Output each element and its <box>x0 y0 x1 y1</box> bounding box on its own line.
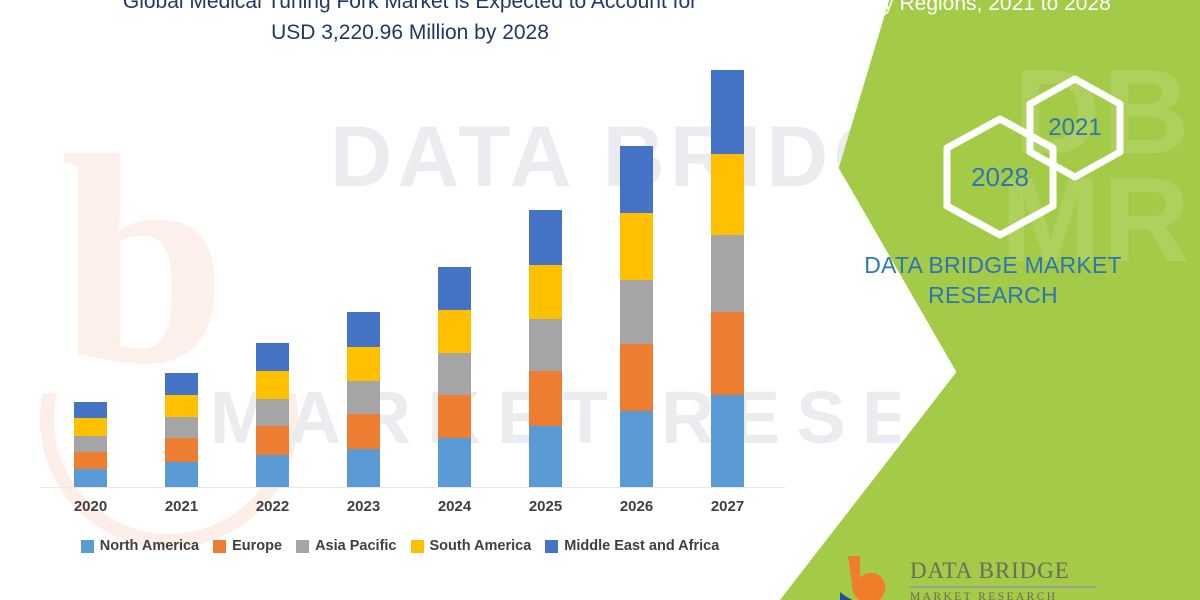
x-axis-labels: 20202021202220232024202520262027 <box>0 498 800 524</box>
bar-segment <box>256 371 289 399</box>
bar-segment <box>74 418 107 436</box>
hexagon-2028-label: 2028 <box>971 162 1029 193</box>
legend-label: Asia Pacific <box>315 538 396 554</box>
bar-2021 <box>165 373 198 488</box>
bar-segment <box>256 399 289 426</box>
bar-segment <box>74 402 107 418</box>
bar-2024 <box>438 267 471 488</box>
bar-segment <box>529 319 562 371</box>
bar-segment <box>165 438 198 462</box>
bar-segment <box>438 310 471 353</box>
legend-label: North America <box>100 538 199 554</box>
bar-segment <box>347 414 380 449</box>
company-logo-rule <box>910 586 1096 588</box>
bar-segment <box>256 455 289 488</box>
bar-segment <box>438 353 471 395</box>
bar-segment <box>711 235 744 313</box>
market-infographic: b DATA BRIDGE MARKET RESEARCH Global Med… <box>0 0 1200 600</box>
bar-segment <box>529 265 562 319</box>
company-logo-tagline: MARKET RESEARCH <box>910 591 1096 600</box>
bar-segment <box>620 344 653 412</box>
hexagon-group: 2028 2021 <box>900 75 1160 240</box>
bar-2025 <box>529 210 562 488</box>
x-axis-label-2023: 2023 <box>329 498 399 515</box>
bar-segment <box>165 395 198 418</box>
brand-name: DATA BRIDGE MARKET RESEARCH <box>808 250 1178 310</box>
bar-segment <box>529 426 562 488</box>
data-bridge-logo-icon <box>838 552 900 600</box>
bar-segment <box>711 312 744 394</box>
hexagon-2021: 2021 <box>1024 75 1126 181</box>
bar-2026 <box>620 146 653 488</box>
bar-2023 <box>347 312 380 488</box>
legend-swatch-icon <box>545 540 558 553</box>
legend-label: South America <box>430 538 532 554</box>
bar-segment <box>529 371 562 426</box>
legend-label: Middle East and Africa <box>564 538 719 554</box>
bar-segment <box>529 210 562 265</box>
bar-segment <box>711 154 744 235</box>
bar-segment <box>74 452 107 469</box>
bar-segment <box>620 146 653 214</box>
x-axis-label-2025: 2025 <box>511 498 581 515</box>
legend-item[interactable]: North America <box>81 538 199 554</box>
x-axis-label-2020: 2020 <box>56 498 126 515</box>
chart-legend: North AmericaEuropeAsia PacificSouth Ame… <box>0 538 800 554</box>
hexagon-2021-label: 2021 <box>1048 114 1101 142</box>
legend-swatch-icon <box>81 540 94 553</box>
bar-segment <box>438 395 471 439</box>
bar-segment <box>620 411 653 488</box>
bar-2022 <box>256 343 289 488</box>
legend-label: Europe <box>232 538 282 554</box>
bar-segment <box>620 280 653 344</box>
legend-swatch-icon <box>411 540 424 553</box>
x-axis-label-2024: 2024 <box>420 498 490 515</box>
bar-segment <box>347 347 380 381</box>
bar-segment <box>438 267 471 310</box>
legend-item[interactable]: South America <box>411 538 532 554</box>
x-axis-label-2026: 2026 <box>602 498 672 515</box>
bar-segment <box>347 381 380 414</box>
legend-item[interactable]: Middle East and Africa <box>545 538 719 554</box>
bar-segment <box>165 462 198 488</box>
bar-2027 <box>711 70 744 488</box>
chart-panel: b DATA BRIDGE MARKET RESEARCH Global Med… <box>0 0 900 600</box>
legend-item[interactable]: Asia Pacific <box>296 538 396 554</box>
legend-swatch-icon <box>213 540 226 553</box>
x-axis-label-2022: 2022 <box>238 498 308 515</box>
bar-2020 <box>74 402 107 488</box>
company-logo-name: DATA BRIDGE <box>910 558 1096 584</box>
stacked-bar-chart: 20202021202220232024202520262027 North A… <box>0 0 900 600</box>
company-logo: DATA BRIDGE MARKET RESEARCH <box>838 552 1178 600</box>
bar-segment <box>165 373 198 394</box>
bar-segment <box>347 312 380 347</box>
bar-segment <box>347 449 380 488</box>
subtitle: By Regions, 2021 to 2028 <box>780 0 1200 19</box>
legend-swatch-icon <box>296 540 309 553</box>
bar-segment <box>74 436 107 452</box>
bar-segment <box>165 417 198 438</box>
bar-segment <box>711 70 744 153</box>
legend-item[interactable]: Europe <box>213 538 282 554</box>
plot-area <box>40 60 780 488</box>
brand-name-line1: DATA BRIDGE MARKET <box>808 250 1178 280</box>
bar-segment <box>438 438 471 488</box>
bar-segment <box>74 469 107 488</box>
bar-segment <box>256 343 289 371</box>
bar-segment <box>711 395 744 488</box>
x-axis-label-2021: 2021 <box>147 498 217 515</box>
brand-name-line2: RESEARCH <box>808 280 1178 310</box>
bar-segment <box>620 213 653 279</box>
bar-segment <box>256 426 289 455</box>
axis-baseline <box>40 487 785 488</box>
company-logo-text: DATA BRIDGE MARKET RESEARCH <box>910 558 1096 600</box>
x-axis-label-2027: 2027 <box>693 498 763 515</box>
